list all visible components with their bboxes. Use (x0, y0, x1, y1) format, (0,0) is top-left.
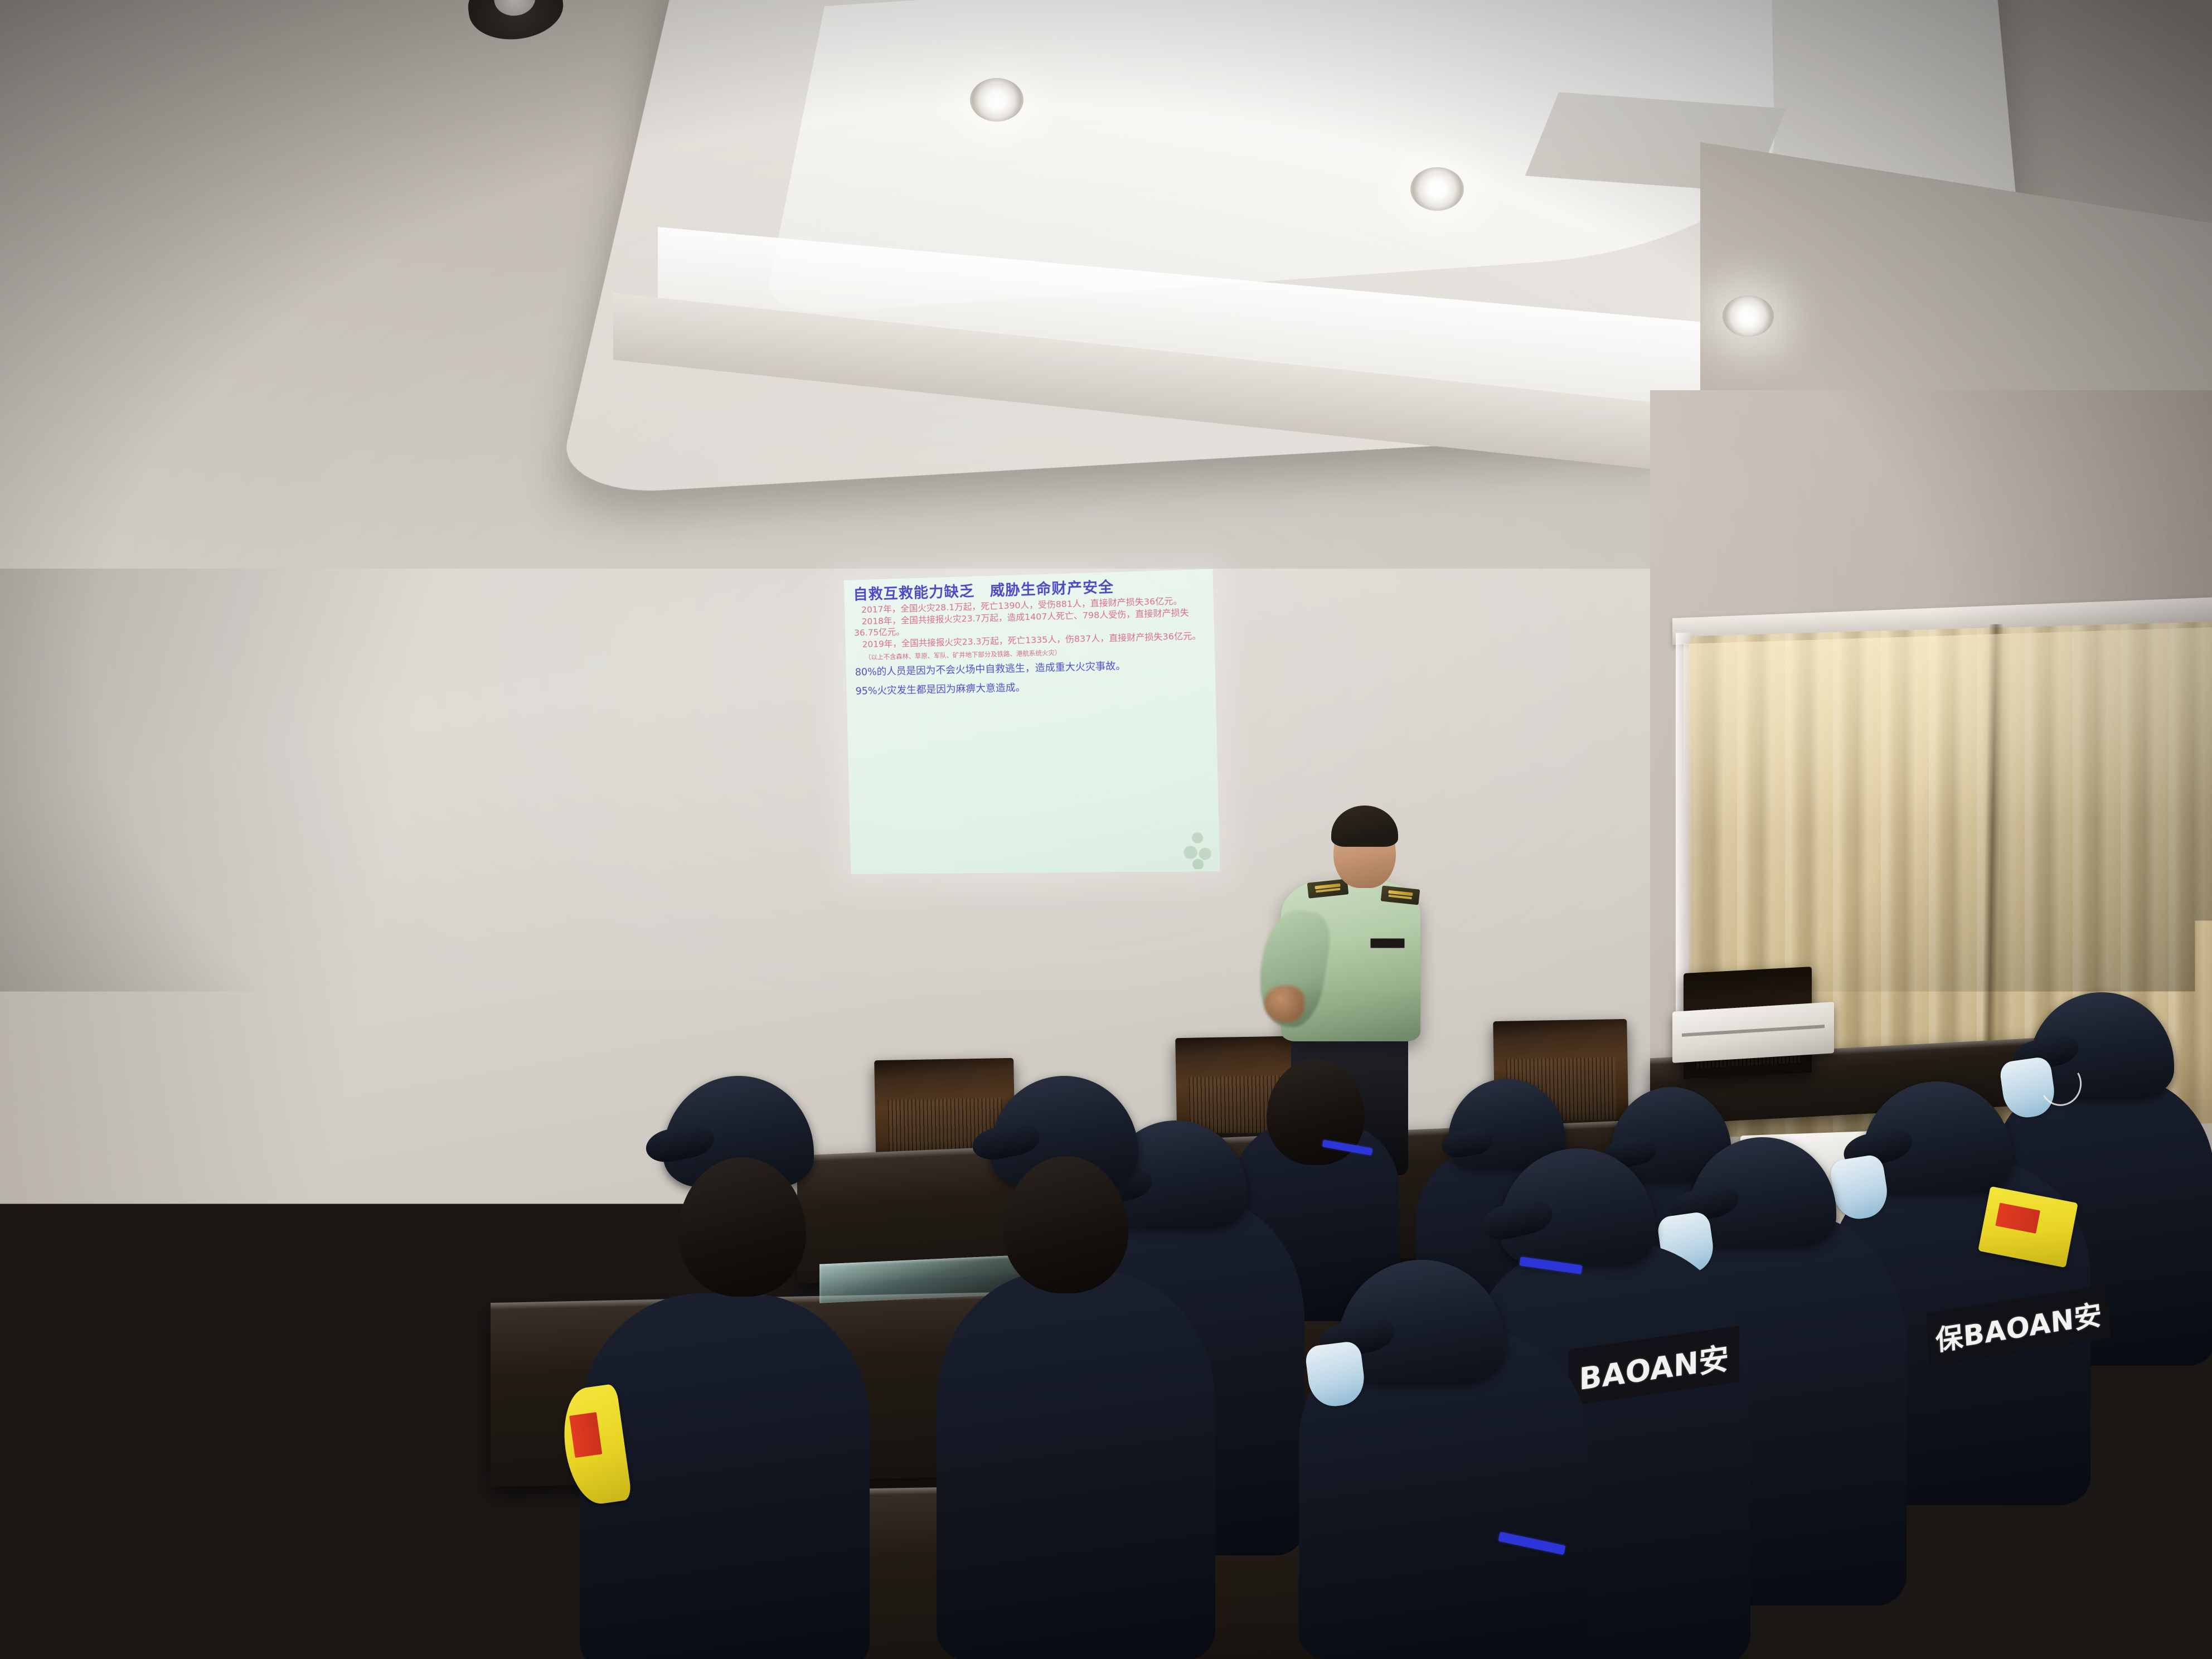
slide-point-95-percent: 95%火灾发生都是因为麻痹大意造成。 (855, 678, 1206, 698)
presenter-hand (1264, 986, 1304, 1022)
presenter-nametag (1370, 938, 1405, 948)
downlight-icon (1723, 295, 1774, 337)
training-room-photo: 自救互救能力缺乏 威胁生命财产安全 2017年，全国火灾28.1万起，死亡139… (0, 0, 2212, 1659)
slide-watermark-icon (1179, 829, 1216, 870)
slide-point-80-percent: 80%的人员是因为不会火场中自救逃生，造成重大火灾事故。 (855, 659, 1206, 680)
downlight-icon (1410, 167, 1464, 211)
projected-slide: 自救互救能力缺乏 威胁生命财产安全 2017年，全国火灾28.1万起，死亡139… (844, 569, 1220, 874)
downlight-icon (970, 78, 1023, 122)
projector-case (1672, 1002, 1834, 1063)
